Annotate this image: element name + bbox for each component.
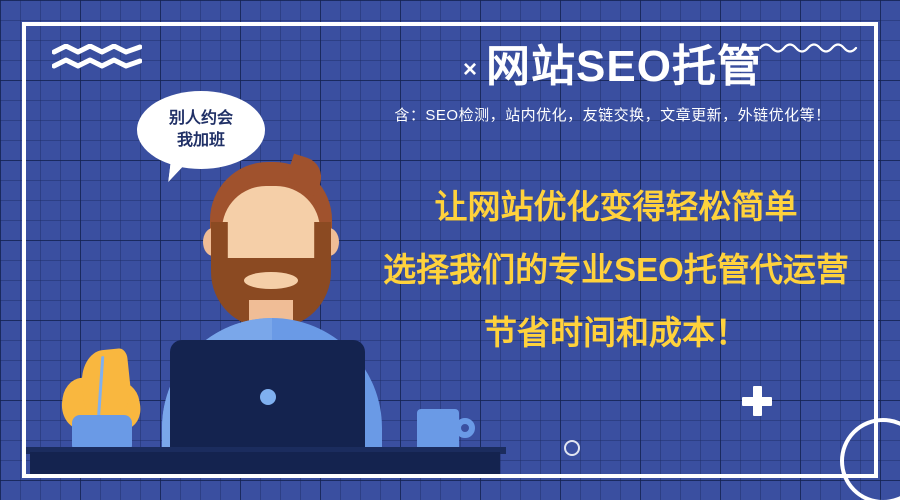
speech-bubble: 别人约会 我加班 (137, 91, 265, 169)
slogan-line-3: 节省时间和成本！ (340, 316, 892, 349)
speech-bubble-line-2: 我加班 (177, 130, 225, 152)
slogan-block: 让网站优化变得轻松简单 选择我们的专业SEO托管代运营 节省时间和成本！ (340, 190, 892, 349)
page-title-text: 网站SEO托管 (486, 42, 762, 91)
seo-promo-banner: 别人约会 我加班 ×网站SEO托管 含：SEO检测，站内优化，友链交换，文章更新… (0, 0, 900, 500)
laptop-logo-icon (260, 389, 276, 405)
zigzag-wave-icon (52, 44, 142, 70)
headline-block: ×网站SEO托管 含：SEO检测，站内优化，友链交换，文章更新，外链优化等！ (340, 44, 885, 125)
slogan-line-2: 选择我们的专业SEO托管代运营 (340, 253, 892, 286)
close-icon: × (463, 56, 478, 83)
speech-bubble-line-1: 别人约会 (169, 108, 233, 130)
slogan-line-1: 让网站优化变得轻松简单 (340, 190, 892, 223)
circle-outline-icon (564, 440, 580, 456)
sine-wave-icon (758, 40, 858, 56)
person-mouth (244, 272, 298, 289)
page-subtitle: 含：SEO检测，站内优化，友链交换，文章更新，外链优化等！ (340, 104, 885, 125)
plus-icon (742, 386, 772, 416)
desk-surface (30, 452, 500, 474)
corner-circle-icon (840, 418, 900, 500)
